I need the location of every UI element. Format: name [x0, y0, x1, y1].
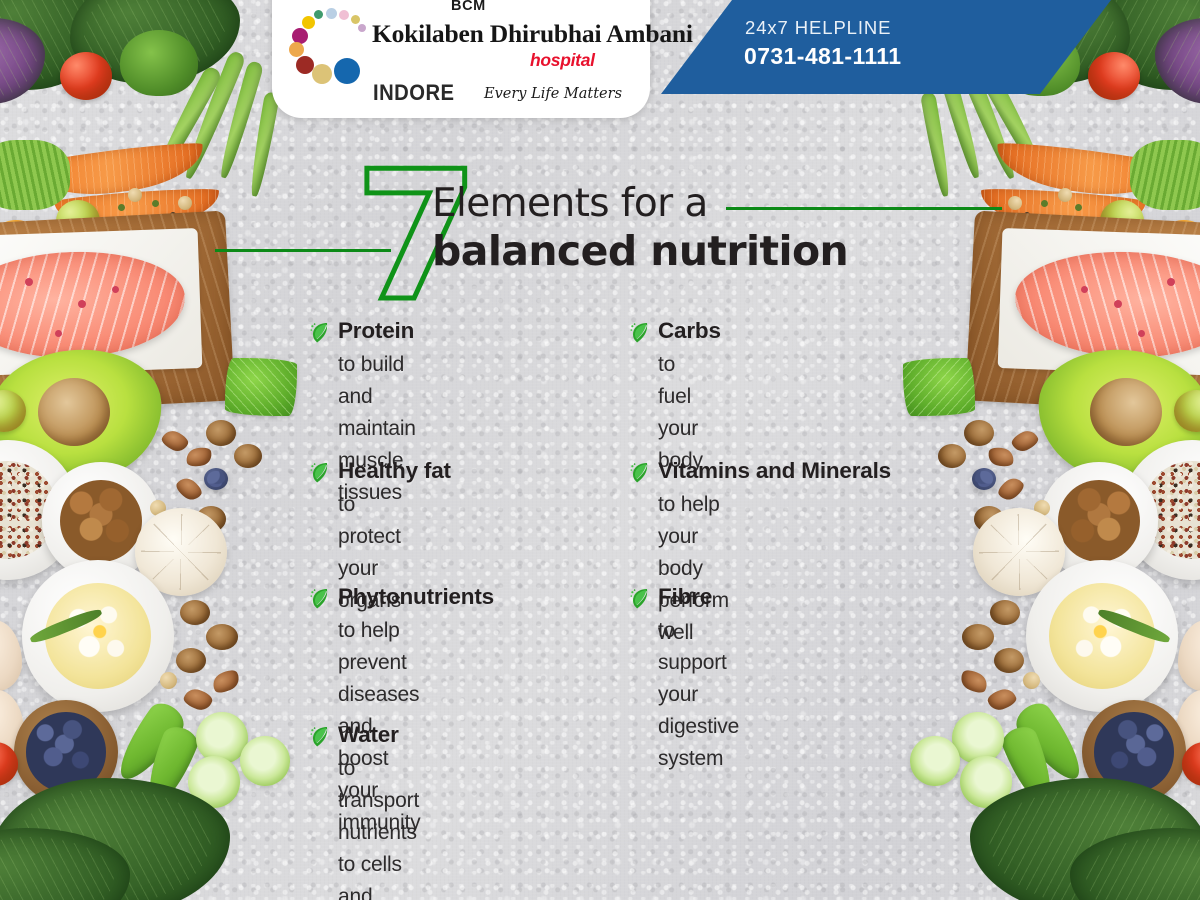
- element-description: to build and maintainmuscle tissues: [338, 349, 416, 509]
- element-name: Vitamins and Minerals: [658, 458, 891, 484]
- hospital-logo-card: BCM Kokilaben Dhirubhai Ambani hospital …: [272, 0, 650, 118]
- element-name: Protein: [338, 318, 414, 344]
- leaf-icon: [310, 726, 330, 748]
- logo-bcm-label: BCM: [451, 0, 486, 14]
- leaf-icon: [630, 588, 650, 610]
- logo-dot: [326, 8, 337, 19]
- logo-dot: [302, 16, 315, 29]
- element-description: to support yourdigestive system: [658, 615, 739, 775]
- logo-dot: [351, 15, 360, 24]
- logo-dots-icon: [284, 8, 376, 100]
- leaf-icon: [630, 462, 650, 484]
- element-name: Fibre: [658, 584, 712, 610]
- leaf-icon: [310, 322, 330, 344]
- element-name: Phytonutrients: [338, 584, 494, 610]
- element-name: Healthy fat: [338, 458, 451, 484]
- elements-list: Proteinto build and maintainmuscle tissu…: [0, 0, 1200, 900]
- logo-dot: [289, 42, 304, 57]
- hospital-word: hospital: [530, 50, 595, 71]
- hospital-city: INDORE: [373, 80, 454, 106]
- element-name: Carbs: [658, 318, 721, 344]
- logo-dot: [334, 58, 360, 84]
- hospital-tagline: Every Life Matters: [484, 86, 622, 102]
- helpline-number[interactable]: 0731-481-1111: [744, 43, 901, 70]
- logo-dot: [314, 10, 323, 19]
- element-description: to transport nutrients to cells andto ge…: [338, 753, 419, 900]
- element-name: Water: [338, 722, 399, 748]
- leaf-icon: [630, 322, 650, 344]
- logo-dot: [339, 10, 349, 20]
- infographic-poster: 24x7 HELPLINE 0731-481-1111 BCM Kokilabe…: [0, 0, 1200, 900]
- logo-dot: [358, 24, 366, 32]
- leaf-icon: [310, 462, 330, 484]
- helpline-label: 24x7 HELPLINE: [745, 17, 891, 39]
- helpline-banner: 24x7 HELPLINE 0731-481-1111: [661, 0, 1111, 94]
- hospital-name: Kokilaben Dhirubhai Ambani: [372, 19, 693, 49]
- logo-dot: [312, 64, 332, 84]
- leaf-icon: [310, 588, 330, 610]
